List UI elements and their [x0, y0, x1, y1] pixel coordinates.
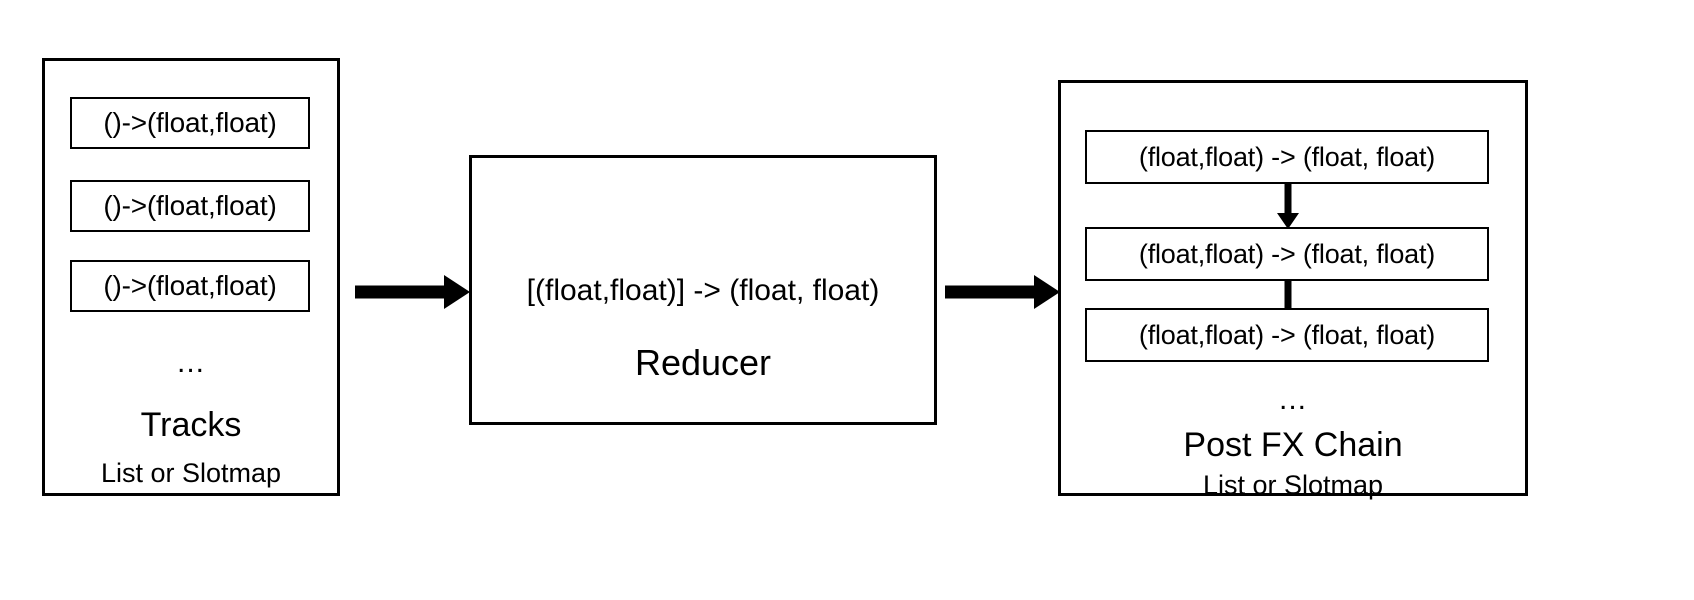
tracks-slot-2-label: ()->(float,float) [103, 192, 276, 220]
postfx-slot-3-label: (float,float) -> (float, float) [1139, 322, 1435, 349]
tracks-slot-3[interactable]: ()->(float,float) [70, 260, 310, 312]
postfx-slot-2[interactable]: (float,float) -> (float, float) [1085, 227, 1489, 281]
arrow-postfx-slot1-to-slot2 [1276, 184, 1300, 229]
tracks-slot-2[interactable]: ()->(float,float) [70, 180, 310, 232]
postfx-slot-2-label: (float,float) -> (float, float) [1139, 241, 1435, 268]
tracks-slot-3-label: ()->(float,float) [103, 272, 276, 300]
reducer-title: Reducer [469, 345, 937, 381]
reducer-signature: [(float,float)] -> (float, float) [469, 276, 937, 306]
postfx-slot-1-label: (float,float) -> (float, float) [1139, 144, 1435, 171]
arrow-tracks-to-reducer [355, 275, 470, 309]
tracks-slot-1[interactable]: ()->(float,float) [70, 97, 310, 149]
tracks-group-subtitle: List or Slotmap [42, 460, 340, 487]
arrow-head [444, 275, 470, 309]
tracks-ellipsis: ... [42, 348, 340, 378]
postfx-slot-3[interactable]: (float,float) -> (float, float) [1085, 308, 1489, 362]
postfx-group-subtitle: List or Slotmap [1058, 472, 1528, 499]
postfx-ellipsis: ... [1058, 385, 1528, 415]
tracks-slot-1-label: ()->(float,float) [103, 109, 276, 137]
arrow-shaft [355, 286, 447, 299]
arrow-shaft [945, 286, 1037, 299]
arrow-shaft [1285, 184, 1292, 216]
arrow-head [1034, 275, 1060, 309]
postfx-slot-1[interactable]: (float,float) -> (float, float) [1085, 130, 1489, 184]
arrow-reducer-to-postfx [945, 275, 1061, 309]
diagram-canvas: ()->(float,float) ()->(float,float) ()->… [0, 0, 1694, 600]
postfx-group-title: Post FX Chain [1058, 428, 1528, 462]
tracks-group-title: Tracks [42, 408, 340, 442]
